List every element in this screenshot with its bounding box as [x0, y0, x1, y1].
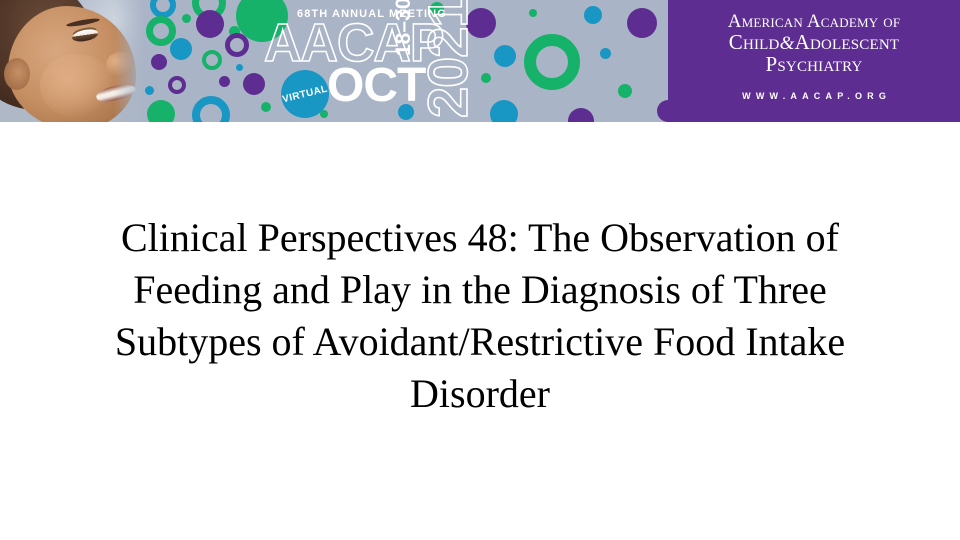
banner-graphic-area: 68TH ANNUAL MEETING AACAP VIRTUAL OCT 18… [0, 0, 668, 122]
decorative-circle [529, 9, 537, 17]
decorative-circle [657, 100, 668, 122]
decorative-circle [196, 10, 224, 38]
decorative-circle [243, 73, 265, 95]
dates-label: 18–30 [392, 0, 416, 56]
decorative-circle [202, 50, 222, 70]
decorative-circle [524, 34, 580, 90]
decorative-circle [490, 100, 518, 122]
title-line: Disorder [60, 368, 900, 420]
title-line: Subtypes of Avoidant/Restrictive Food In… [60, 316, 900, 368]
logo-line-psychiatry: Psychiatry [668, 54, 960, 76]
aacap-logo-text: American Academy of Child&Adolescent Psy… [668, 12, 960, 75]
decorative-circle [151, 54, 167, 70]
decorative-circle [481, 73, 491, 83]
presentation-title: Clinical Perspectives 48: The Observatio… [60, 212, 900, 420]
logo-word-adolescent: Adolescent [795, 30, 900, 54]
decorative-circle [219, 76, 230, 87]
aacap-website-url: WWW.AACAP.ORG [668, 91, 960, 101]
month-label: OCT [327, 62, 425, 110]
decorative-circle [170, 38, 192, 60]
child-photo [0, 0, 148, 122]
year-label: 2021 [420, 0, 476, 118]
aacap-logo-panel: American Academy of Child&Adolescent Psy… [668, 0, 960, 122]
photo-edge-fade [114, 0, 148, 122]
decorative-circle [236, 64, 243, 71]
decorative-circle [192, 96, 230, 122]
decorative-circle [182, 14, 191, 23]
decorative-circle [494, 45, 516, 67]
virtual-badge-label: VIRTUAL [281, 83, 328, 105]
virtual-badge: VIRTUAL [281, 70, 329, 118]
logo-word-child: Child [729, 30, 780, 54]
decorative-circle [568, 108, 594, 122]
slide: 68TH ANNUAL MEETING AACAP VIRTUAL OCT 18… [0, 0, 960, 540]
decorative-circle [225, 33, 249, 57]
decorative-circle [600, 48, 611, 59]
decorative-circle [261, 102, 271, 112]
decorative-circle [168, 76, 186, 94]
decorative-circle [584, 6, 602, 24]
title-line: Feeding and Play in the Diagnosis of Thr… [60, 264, 900, 316]
title-line: Clinical Perspectives 48: The Observatio… [60, 212, 900, 264]
conference-banner: 68TH ANNUAL MEETING AACAP VIRTUAL OCT 18… [0, 0, 960, 122]
photo-cheek [40, 54, 114, 118]
decorative-circle [618, 84, 632, 98]
decorative-circle [147, 100, 175, 122]
logo-line-child-adolescent: Child&Adolescent [668, 32, 960, 54]
photo-ear [4, 58, 30, 90]
decorative-circle [145, 86, 154, 95]
ampersand-icon: & [780, 33, 795, 54]
decorative-circle [627, 8, 657, 38]
